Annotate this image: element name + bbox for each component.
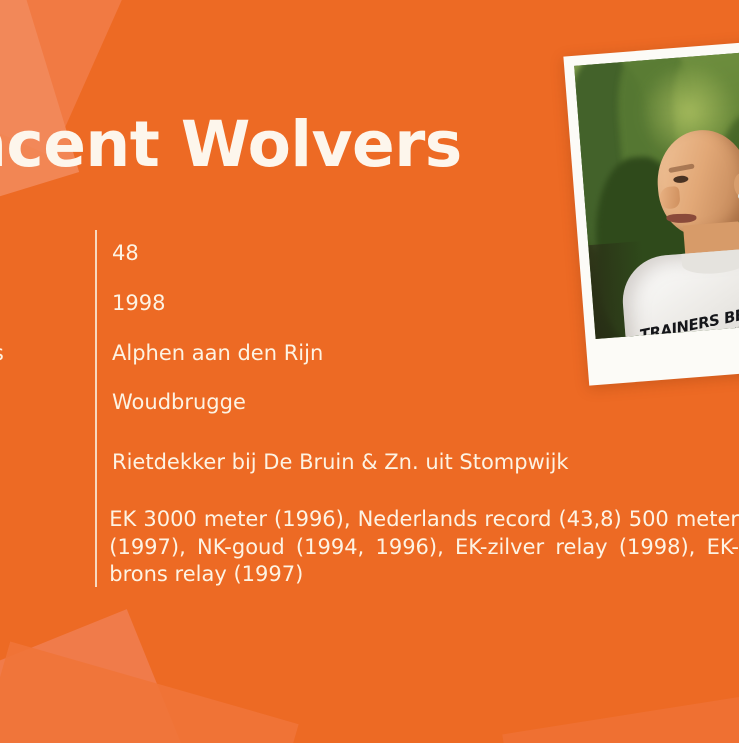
subject-nose bbox=[659, 186, 681, 210]
info-label-beroep: p bbox=[0, 449, 80, 475]
info-row-beroep: p Rietdekker bij De Bruin & Zn. uit Stom… bbox=[0, 449, 739, 477]
portrait-image: TRAINERS BEDANKT! Schaats Gewest Zuid-Ho… bbox=[574, 51, 739, 339]
decorative-shape-bottom-right-1 bbox=[502, 669, 739, 743]
polaroid-frame: TRAINERS BEDANKT! Schaats Gewest Zuid-Ho… bbox=[563, 40, 739, 385]
info-value-debuut: 1998 bbox=[112, 290, 165, 318]
info-label-geboorteplaats: rteplaats bbox=[0, 340, 80, 366]
info-value-beroep: Rietdekker bij De Bruin & Zn. uit Stompw… bbox=[112, 449, 569, 477]
info-row-hoogtepunten: epunten EK 3000 meter (1996), Nederlands… bbox=[0, 506, 739, 589]
info-label-debuut: t bbox=[0, 290, 80, 316]
info-label-hoogtepunten: epunten bbox=[0, 506, 77, 532]
info-value-geboorteplaats: Alphen aan den Rijn bbox=[112, 340, 323, 368]
info-row-woonplaats: plaats Woudbrugge bbox=[0, 389, 739, 417]
info-value-woonplaats: Woudbrugge bbox=[112, 389, 246, 417]
info-value-hoogtepunten: EK 3000 meter (1996), Nederlands record … bbox=[109, 506, 739, 589]
polaroid-photo: TRAINERS BEDANKT! Schaats Gewest Zuid-Ho… bbox=[563, 40, 739, 385]
info-label-leeftijd: d bbox=[0, 240, 80, 266]
info-value-leeftijd: 48 bbox=[112, 240, 139, 268]
info-label-woonplaats: plaats bbox=[0, 389, 80, 415]
decorative-shape-bottom-left-2 bbox=[0, 641, 299, 743]
page-title: ncent Wolvers bbox=[0, 113, 462, 176]
athlete-profile-card: ncent Wolvers d 48 t 1998 rteplaats Alph… bbox=[0, 0, 739, 743]
decorative-shape-bottom-left-1 bbox=[0, 609, 239, 743]
